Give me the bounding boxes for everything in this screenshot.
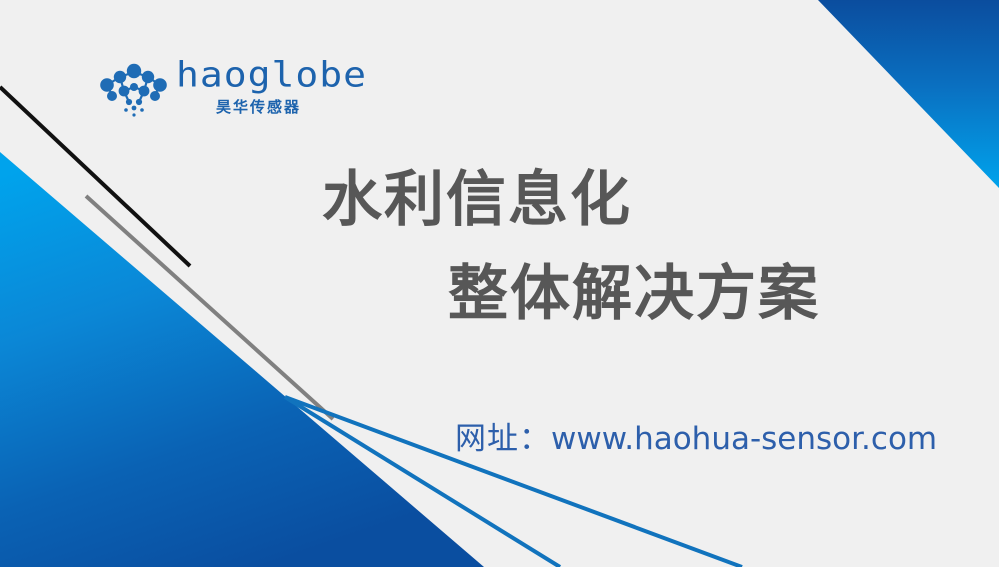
network-nodes-icon [96,61,172,119]
page-title-line-1: 水利信息化 [322,168,632,232]
website-label: 网址： [455,421,551,457]
brand-wordmark: haoglobe [176,55,367,94]
website-url[interactable]: www.haohua-sensor.com [551,421,937,457]
top-right-triangle [818,0,999,188]
diagonal-line-gray [86,196,333,419]
brand-logo: haoglobe 昊华传感器 [96,55,326,127]
brand-chinese-name: 昊华传感器 [216,99,301,116]
page-title-line-2: 整体解决方案 [448,262,820,326]
website-line: 网址：www.haohua-sensor.com [455,418,937,459]
slide-canvas: haoglobe 昊华传感器 水利信息化 整体解决方案 网址：www.haohu… [0,0,999,567]
